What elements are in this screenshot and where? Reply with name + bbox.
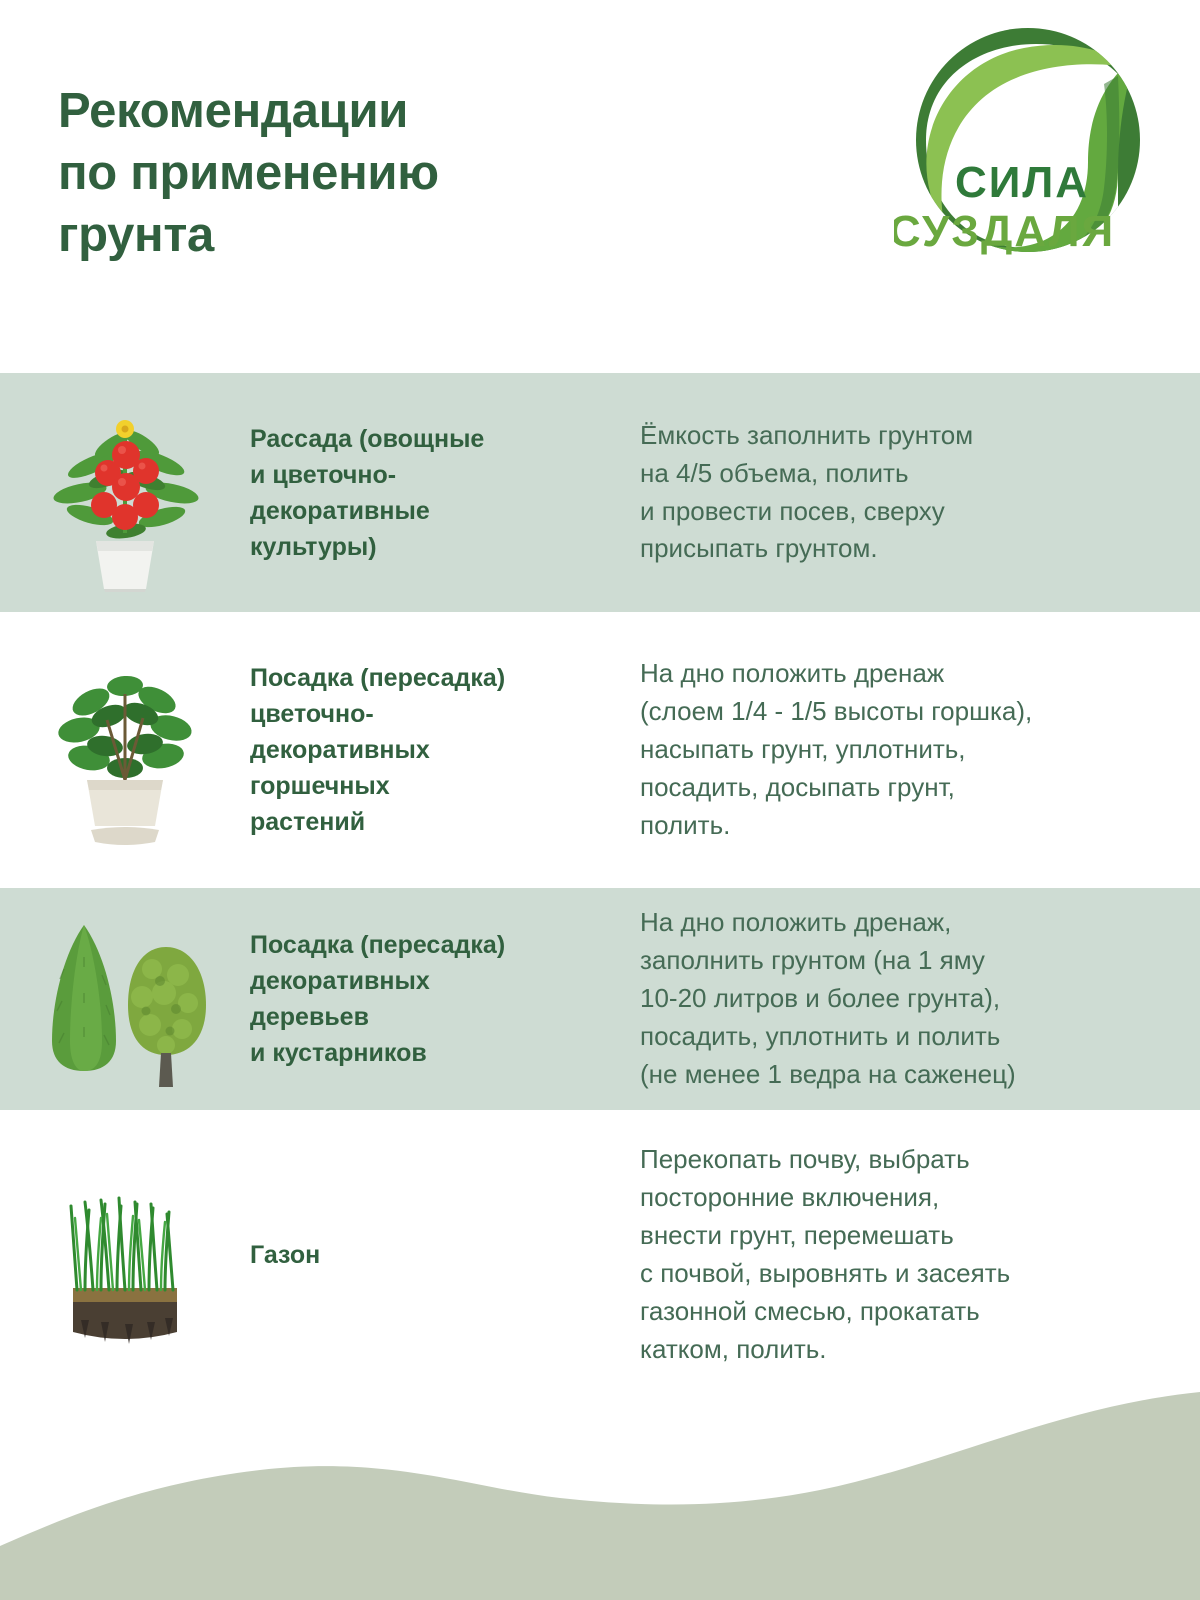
page-title: Рекомендации по применению грунта	[58, 80, 439, 267]
row-description: На дно положить дренаж (слоем 1/4 - 1/5 …	[640, 655, 1200, 845]
row-description: На дно положить дренаж, заполнить грунто…	[640, 904, 1200, 1094]
row-term: Рассада (овощные и цветочно- декоративны…	[250, 421, 640, 565]
row-description: Ёмкость заполнить грунтом на 4/5 объема,…	[640, 417, 1200, 569]
logo-line-1-text: СИЛА	[955, 158, 1089, 207]
table-row: Рассада (овощные и цветочно- декоративны…	[0, 373, 1200, 612]
table-row: Газон Перекопать почву, выбрать посторон…	[0, 1110, 1200, 1400]
bottom-wave-decoration	[0, 1370, 1200, 1600]
potted-tomato-plant-image	[0, 373, 250, 612]
row-description: Перекопать почву, выбрать посторонние вк…	[640, 1141, 1200, 1369]
potted-houseplant-image	[0, 612, 250, 888]
infographic-page: Рекомендации по применению грунта	[0, 0, 1200, 1600]
row-term: Посадка (пересадка) декоративных деревье…	[250, 927, 640, 1071]
decorative-trees-image	[0, 888, 250, 1110]
header: Рекомендации по применению грунта	[0, 0, 1200, 373]
grass-turf-block-image	[0, 1110, 250, 1400]
row-term: Посадка (пересадка) цветочно- декоративн…	[250, 660, 640, 840]
brand-logo: СИЛА СУЗДАЛЯ	[894, 22, 1162, 280]
row-term: Газон	[250, 1237, 640, 1273]
table-row: Посадка (пересадка) цветочно- декоративн…	[0, 612, 1200, 888]
table-row: Посадка (пересадка) декоративных деревье…	[0, 888, 1200, 1110]
logo-line-2-text: СУЗДАЛЯ	[894, 207, 1115, 256]
